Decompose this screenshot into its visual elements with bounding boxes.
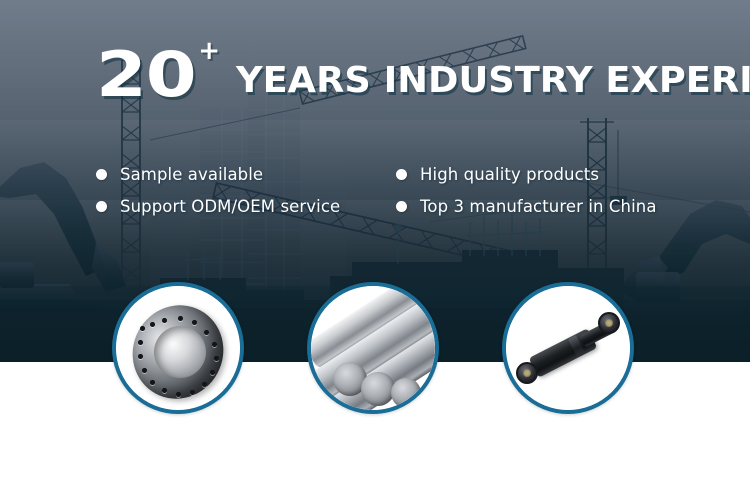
steel-round-bars-photo [311, 286, 435, 410]
flange-bolt-hole [140, 326, 145, 331]
cylinder-mount-eye [598, 312, 620, 334]
flange-bolt-hole [150, 380, 155, 385]
steel-bar-end-face [361, 372, 395, 406]
flange-bolt-hole [150, 322, 155, 327]
flange-bolt-hole [176, 392, 181, 397]
flange-bolt-hole [202, 382, 207, 387]
flange-bolt-hole [214, 356, 219, 361]
flange-bolt-hole [138, 340, 143, 345]
flange-bolt-hole [190, 390, 195, 395]
flange-bolt-hole [142, 368, 147, 373]
hydraulic-cylinder-photo [506, 286, 630, 410]
flange-bolt-hole [162, 318, 167, 323]
flange-bolt-hole [204, 330, 209, 335]
steel-flange-pipe-photo [116, 286, 240, 410]
flange-bolt-hole [212, 342, 217, 347]
industry-experience-banner: 20 + YEARS INDUSTRY EXPERIENCE Sample av… [0, 0, 750, 482]
product-circle-hydraulic-cylinder[interactable] [502, 282, 634, 414]
flange-bolt-hole [210, 370, 215, 375]
flange-bolt-hole [138, 354, 143, 359]
cylinder-mount-eye [516, 362, 538, 384]
product-circle-flange[interactable] [112, 282, 244, 414]
flange-bolt-hole [192, 320, 197, 325]
flange-bolt-hole [162, 388, 167, 393]
steel-bar-end-face [391, 378, 421, 408]
flange-bolt-hole [178, 316, 183, 321]
product-thumbnail-row [0, 0, 750, 482]
product-circle-round-bars[interactable] [307, 282, 439, 414]
